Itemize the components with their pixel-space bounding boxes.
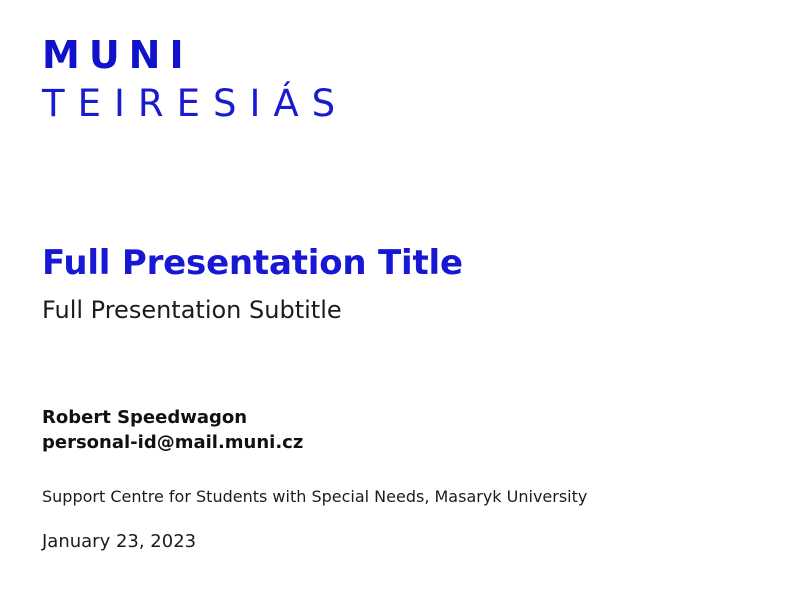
author-name: Robert Speedwagon	[42, 405, 742, 430]
muni-wordmark: MUNI	[42, 34, 348, 76]
presentation-subtitle: Full Presentation Subtitle	[42, 295, 742, 325]
author-affiliation: Support Centre for Students with Special…	[42, 486, 742, 508]
title-block: Full Presentation Title Full Presentatio…	[42, 243, 742, 325]
muni-teiresias-logo: MUNI TEIRESIÁS	[42, 34, 348, 126]
presentation-date: January 23, 2023	[42, 530, 742, 554]
author-block: Robert Speedwagon personal-id@mail.muni.…	[42, 405, 742, 554]
author-email: personal-id@mail.muni.cz	[42, 430, 742, 455]
teiresias-wordmark: TEIRESIÁS	[42, 82, 348, 126]
presentation-title: Full Presentation Title	[42, 243, 742, 283]
title-slide: MUNI TEIRESIÁS Full Presentation Title F…	[0, 0, 794, 596]
